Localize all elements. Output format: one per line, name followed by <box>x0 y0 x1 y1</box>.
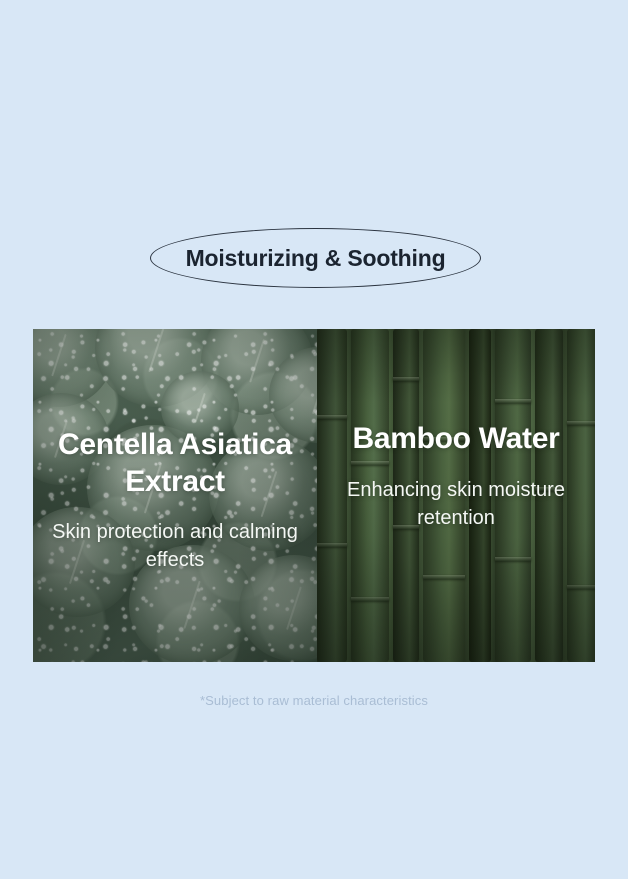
ingredient-panel-centella: Centella Asiatica Extract Skin protectio… <box>33 329 317 662</box>
footnote-disclaimer: *Subject to raw material characteristics <box>0 693 628 708</box>
bamboo-text-group: Bamboo Water Enhancing skin moisture ret… <box>317 421 595 532</box>
bamboo-heading: Bamboo Water <box>327 421 585 458</box>
moisturizing-soothing-badge: Moisturizing & Soothing <box>150 228 481 288</box>
ingredient-panel-bamboo: Bamboo Water Enhancing skin moisture ret… <box>317 329 595 662</box>
centella-heading: Centella Asiatica Extract <box>43 427 307 500</box>
centella-text-group: Centella Asiatica Extract Skin protectio… <box>33 427 317 574</box>
ingredient-image-block: Centella Asiatica Extract Skin protectio… <box>33 329 595 662</box>
centella-subtitle: Skin protection and calming effects <box>43 518 307 574</box>
badge-label: Moisturizing & Soothing <box>150 228 481 288</box>
bamboo-subtitle: Enhancing skin moisture retention <box>327 476 585 532</box>
